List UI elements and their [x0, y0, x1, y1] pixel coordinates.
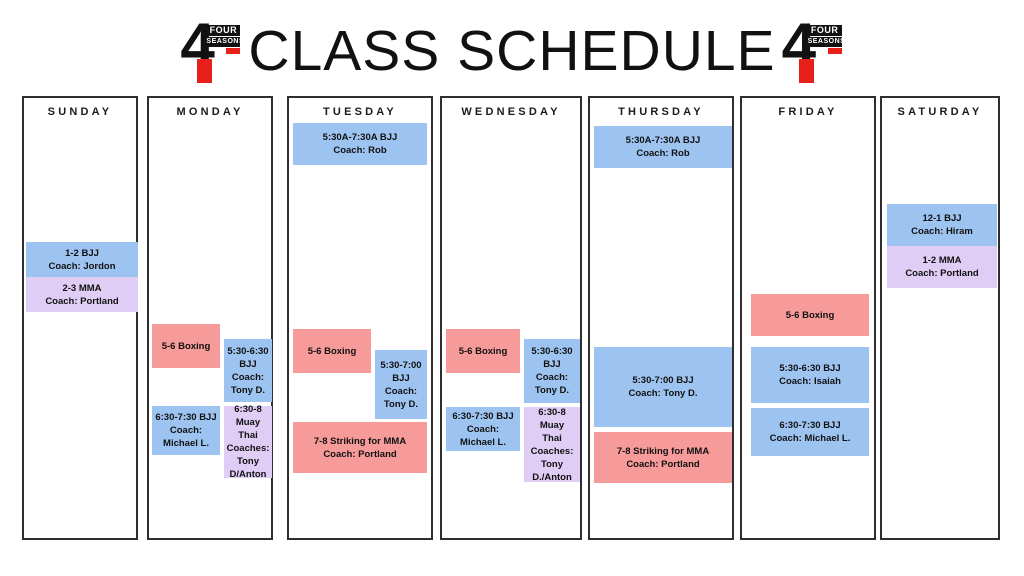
class-block-line: BJJ [392, 372, 409, 385]
class-block-line: Coaches: [227, 442, 270, 455]
class-block-line: D./Anton [532, 471, 572, 484]
class-block-line: 5:30-6:30 BJJ [779, 362, 840, 375]
class-block-tuesday-striking[interactable]: 7-8 Striking for MMACoach: Portland [293, 422, 427, 473]
class-block-line: 12-1 BJJ [922, 212, 961, 225]
class-block-line: 5-6 Boxing [786, 309, 835, 322]
day-column-monday: MONDAY5-6 Boxing5:30-6:30BJJCoach:Tony D… [147, 96, 273, 540]
logo-wordmark: FOUR SEASONS [206, 25, 240, 54]
class-block-line: Coach: Rob [636, 147, 689, 160]
logo-red-stem [197, 59, 212, 83]
class-block-monday-muaythai[interactable]: 6:30-8Muay ThaiCoaches:TonyD/Anton [224, 406, 272, 478]
day-header-monday: MONDAY [149, 106, 271, 118]
logo-word-seasons: SEASONS [808, 37, 842, 47]
four-seasons-logo-left: 4 FOUR SEASONS [180, 15, 242, 87]
class-block-line: 6:30-8 Muay [527, 406, 577, 432]
class-block-sunday-mma-1[interactable]: 2-3 MMACoach: Portland [26, 277, 138, 312]
class-block-line: Tony D. [384, 398, 418, 411]
class-block-wednesday-bjj-630[interactable]: 6:30-7:30 BJJCoach:Michael L. [446, 407, 520, 451]
class-block-line: BJJ [543, 358, 560, 371]
class-block-monday-bjj-530[interactable]: 5:30-6:30BJJCoach:Tony D. [224, 339, 272, 402]
class-block-tuesday-bjj-am[interactable]: 5:30A-7:30A BJJCoach: Rob [293, 123, 427, 165]
class-block-monday-boxing[interactable]: 5-6 Boxing [152, 324, 220, 368]
class-block-line: 5:30-7:00 [380, 359, 421, 372]
class-block-line: Coach: Portland [323, 448, 396, 461]
logo-red-bar [828, 48, 842, 54]
day-column-saturday: SATURDAY12-1 BJJCoach: Hiram1-2 MMACoach… [880, 96, 1000, 540]
class-block-line: Coach: Portland [45, 295, 118, 308]
class-block-line: 7-8 Striking for MMA [314, 435, 406, 448]
class-block-line: 5-6 Boxing [162, 340, 211, 353]
class-block-line: 6:30-7:30 BJJ [779, 419, 840, 432]
class-block-line: Coach: Isaiah [779, 375, 841, 388]
class-block-line: Tony [237, 455, 259, 468]
class-block-line: Coach: Michael L. [155, 424, 217, 450]
class-block-saturday-bjj[interactable]: 12-1 BJJCoach: Hiram [887, 204, 997, 246]
class-block-tuesday-bjj-530[interactable]: 5:30-7:00BJJCoach:Tony D. [375, 350, 427, 419]
day-column-tuesday: TUESDAY5:30A-7:30A BJJCoach: Rob5-6 Boxi… [287, 96, 433, 540]
class-block-line: Tony [541, 458, 563, 471]
logo-word-four: FOUR [808, 25, 842, 36]
class-block-line: Coach: [232, 371, 264, 384]
class-block-sunday-bjj-1[interactable]: 1-2 BJJCoach: Jordon [26, 242, 138, 277]
class-block-wednesday-bjj-530[interactable]: 5:30-6:30BJJCoach:Tony D. [524, 339, 580, 403]
class-block-line: Tony D. [231, 384, 265, 397]
class-block-friday-bjj-530[interactable]: 5:30-6:30 BJJCoach: Isaiah [751, 347, 869, 403]
class-block-line: Michael L. [460, 436, 506, 449]
class-block-thursday-bjj-am[interactable]: 5:30A-7:30A BJJCoach: Rob [594, 126, 732, 168]
class-block-line: Coach: [536, 371, 568, 384]
day-header-sunday: SUNDAY [24, 106, 136, 118]
page-title: CLASS SCHEDULE [248, 23, 775, 80]
class-block-line: 5-6 Boxing [308, 345, 357, 358]
day-header-thursday: THURSDAY [590, 106, 732, 118]
class-block-line: Coaches: [531, 445, 574, 458]
class-block-line: 6:30-7:30 BJJ [452, 410, 513, 423]
class-block-line: 2-3 MMA [62, 282, 101, 295]
class-schedule-page: 4 FOUR SEASONS CLASS SCHEDULE 4 FOUR SEA… [0, 0, 1024, 576]
class-block-line: 6:30-8 [234, 403, 261, 416]
logo-wordmark: FOUR SEASONS [808, 25, 842, 54]
day-column-wednesday: WEDNESDAY5-6 Boxing5:30-6:30BJJCoach:Ton… [440, 96, 582, 540]
logo-word-four: FOUR [206, 25, 240, 36]
class-block-line: 1-2 MMA [922, 254, 961, 267]
class-block-thursday-striking[interactable]: 7-8 Striking for MMACoach: Portland [594, 432, 732, 483]
day-header-wednesday: WEDNESDAY [442, 106, 580, 118]
four-seasons-logo-right: 4 FOUR SEASONS [782, 15, 844, 87]
class-block-line: 6:30-7:30 BJJ [155, 411, 216, 424]
logo-word-seasons: SEASONS [206, 37, 240, 47]
class-block-line: Tony D. [535, 384, 569, 397]
title-row: 4 FOUR SEASONS CLASS SCHEDULE 4 FOUR SEA… [0, 10, 1024, 92]
logo-red-stem [799, 59, 814, 83]
class-block-line: Coach: Portland [905, 267, 978, 280]
day-header-saturday: SATURDAY [882, 106, 998, 118]
class-block-saturday-mma[interactable]: 1-2 MMACoach: Portland [887, 246, 997, 288]
class-block-wednesday-boxing[interactable]: 5-6 Boxing [446, 329, 520, 373]
class-block-line: BJJ [239, 358, 256, 371]
class-block-line: Thai [542, 432, 562, 445]
class-block-line: 5:30-6:30 [227, 345, 268, 358]
class-block-thursday-bjj-530[interactable]: 5:30-7:00 BJJCoach: Tony D. [594, 347, 732, 427]
class-block-line: 5:30-6:30 [531, 345, 572, 358]
class-block-line: 1-2 BJJ [65, 247, 99, 260]
class-block-line: Coach: Jordon [48, 260, 115, 273]
class-block-line: Coach: [385, 385, 417, 398]
class-block-tuesday-boxing[interactable]: 5-6 Boxing [293, 329, 371, 373]
class-block-wednesday-muaythai[interactable]: 6:30-8 MuayThaiCoaches:TonyD./Anton [524, 407, 580, 482]
class-block-line: Muay Thai [227, 416, 269, 442]
class-block-friday-boxing[interactable]: 5-6 Boxing [751, 294, 869, 336]
class-block-line: 5:30A-7:30A BJJ [626, 134, 701, 147]
logo-red-bar [226, 48, 240, 54]
class-block-monday-bjj-630[interactable]: 6:30-7:30 BJJCoach: Michael L. [152, 406, 220, 455]
day-column-sunday: SUNDAY1-2 BJJCoach: Jordon2-3 MMACoach: … [22, 96, 138, 540]
class-block-line: 5-6 Boxing [459, 345, 508, 358]
day-column-thursday: THURSDAY5:30A-7:30A BJJCoach: Rob5:30-7:… [588, 96, 734, 540]
class-block-line: Coach: Tony D. [629, 387, 698, 400]
class-block-friday-bjj-630[interactable]: 6:30-7:30 BJJCoach: Michael L. [751, 408, 869, 456]
class-block-line: Coach: [467, 423, 499, 436]
class-block-line: 7-8 Striking for MMA [617, 445, 709, 458]
class-block-line: D/Anton [230, 468, 267, 481]
day-header-tuesday: TUESDAY [289, 106, 431, 118]
class-block-line: 5:30-7:00 BJJ [632, 374, 693, 387]
class-block-line: Coach: Hiram [911, 225, 973, 238]
class-block-line: 5:30A-7:30A BJJ [323, 131, 398, 144]
class-block-line: Coach: Rob [333, 144, 386, 157]
day-column-friday: FRIDAY5-6 Boxing5:30-6:30 BJJCoach: Isai… [740, 96, 876, 540]
class-block-line: Coach: Portland [626, 458, 699, 471]
day-header-friday: FRIDAY [742, 106, 874, 118]
class-block-line: Coach: Michael L. [770, 432, 851, 445]
